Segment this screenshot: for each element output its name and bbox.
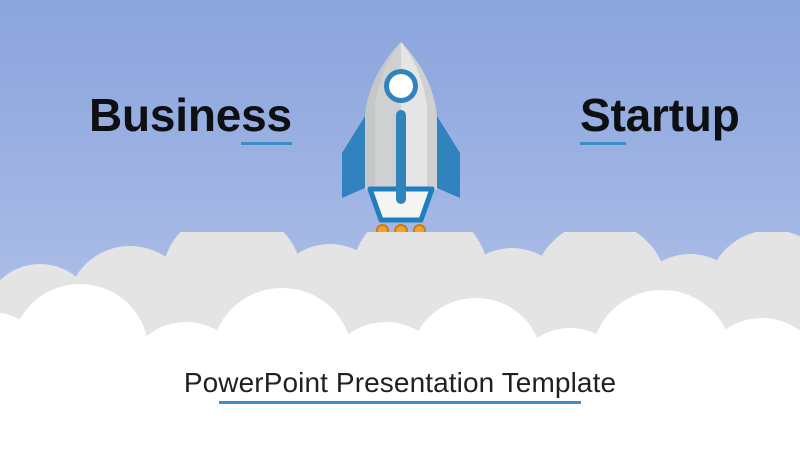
headline-left-prefix: Busine xyxy=(89,89,241,141)
cloud-bank xyxy=(0,232,800,450)
footer-underline-rule xyxy=(219,401,581,404)
rocket-stripe xyxy=(396,110,406,204)
rocket-left-fin xyxy=(342,116,365,198)
headline-left-underlined: ss xyxy=(241,92,292,138)
presentation-slide: Business Startup xyxy=(0,0,800,450)
headline-word-left: Business xyxy=(89,92,292,138)
headline-right-suffix: artup xyxy=(626,89,740,141)
rocket-icon xyxy=(336,38,466,233)
headline-word-right: Startup xyxy=(580,92,740,138)
rocket-window-glass xyxy=(389,74,413,98)
headline-right-underlined: St xyxy=(580,92,626,138)
footer-caption-wrap: PowerPoint Presentation Template xyxy=(0,368,800,399)
footer-caption: PowerPoint Presentation Template xyxy=(184,368,616,399)
rocket-right-fin xyxy=(437,116,460,198)
